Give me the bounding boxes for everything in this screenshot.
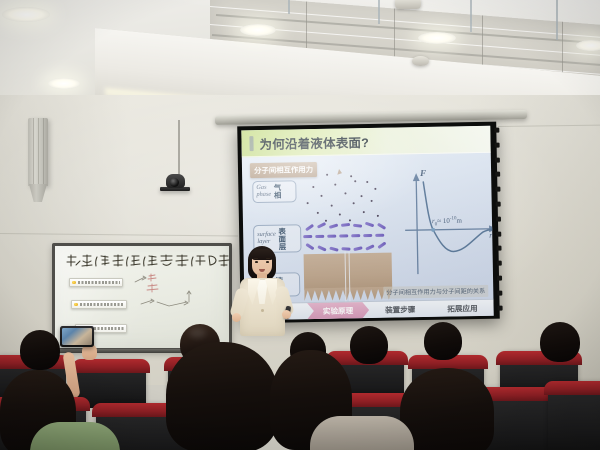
presenter-brow <box>266 258 270 259</box>
recessed-downlight <box>576 40 600 51</box>
slide-caption: 分子间相互作用力与分子间距的关系 <box>383 285 488 299</box>
audience-head <box>540 322 580 362</box>
smoke-detector <box>412 56 429 66</box>
audience-shoulders <box>30 422 120 450</box>
graph-r0-annotation: r0≈ 10-10m <box>432 216 462 227</box>
audience-head <box>350 326 388 364</box>
phase-label-en: surface layer <box>257 232 276 246</box>
ceiling-hanger <box>378 0 380 24</box>
card-text-line <box>78 281 120 283</box>
audience-head <box>400 368 494 450</box>
presenter-button <box>261 309 264 312</box>
ceiling-projector-mount <box>395 0 421 9</box>
slide-tab-label: 拓展应用 <box>447 303 478 315</box>
whiteboard-card <box>69 278 123 287</box>
audience-head <box>166 342 278 450</box>
ceiling-hanger <box>288 0 290 14</box>
slide-tab-applications[interactable]: 拓展应用 <box>431 299 494 317</box>
ceiling-hanger <box>470 0 472 32</box>
card-marker-dot <box>72 281 76 285</box>
whiteboard-card <box>71 300 127 309</box>
presenter-eye <box>255 261 258 263</box>
audience-head <box>20 330 60 370</box>
camera-lens-icon <box>170 178 179 187</box>
slide-tab-label: 实验原理 <box>323 305 354 317</box>
recessed-downlight <box>240 24 276 36</box>
graph-x-axis-label: r <box>489 231 492 240</box>
phone-screen <box>62 328 92 345</box>
graph-y-axis-label: F <box>420 168 426 178</box>
phase-label-gas: Gas phase 气相 <box>252 180 296 203</box>
audience-area: 演示机 <box>0 318 600 450</box>
presenter-brow <box>254 258 258 259</box>
lecture-hall-photo: 为何沿着液体表面? 分子间相互作用力 Gas phase 气相 surface <box>0 0 600 450</box>
camera-cable <box>178 120 180 176</box>
ceiling-hanger <box>556 0 558 40</box>
title-accent-bar <box>249 136 253 151</box>
wall-duct <box>28 118 48 186</box>
presenter-eye <box>266 261 269 263</box>
phase-label-en: Gas phase <box>256 185 271 198</box>
gas-molecule-dots <box>304 171 387 224</box>
force-distance-graph: F r r0≈ 10-10m <box>400 167 494 286</box>
recessed-downlight <box>418 32 456 44</box>
audience-shoulders <box>310 416 414 450</box>
recessed-downlight <box>48 78 80 89</box>
auditorium-seat <box>548 384 600 450</box>
audience-head <box>424 322 462 360</box>
phase-label-cn: 气相 <box>273 184 281 199</box>
card-marker-dot <box>74 303 78 307</box>
slide-tab-procedure[interactable]: 装置步骤 <box>369 300 432 318</box>
recessed-downlight <box>2 7 50 22</box>
slide-title: 为何沿着液体表面? <box>259 131 369 152</box>
whiteboard-handwritten-title <box>64 253 230 271</box>
card-text-line <box>80 303 124 305</box>
smartphone[interactable] <box>60 326 94 347</box>
slide-tab-principle[interactable]: 实验原理 <box>307 302 370 320</box>
slide-tab-label: 装置步骤 <box>385 304 416 316</box>
